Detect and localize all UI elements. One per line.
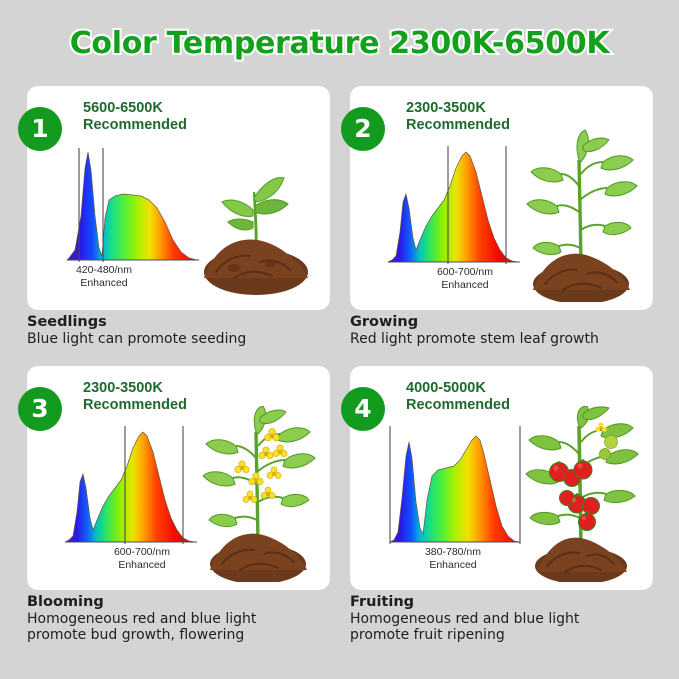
step-badge-3: 3 xyxy=(18,387,62,431)
seedling-plant-svg xyxy=(194,126,322,302)
fruiting-tomato-plant-svg xyxy=(517,406,645,582)
spectrum-svg-1 xyxy=(57,138,202,278)
caption-title-1: Seedlings xyxy=(27,314,337,331)
caption-growing: Growing Red light promote stem leaf grow… xyxy=(350,314,660,347)
step-badge-4: 4 xyxy=(341,387,385,431)
page-title: Color Temperature 2300K-6500K xyxy=(0,26,679,61)
caption-fruiting: Fruiting Homogeneous red and blue light … xyxy=(350,594,660,643)
chart-caption-1: 420-480/nm Enhanced xyxy=(49,264,159,289)
caption-title-3: Blooming xyxy=(27,594,337,611)
step-badge-2: 2 xyxy=(341,107,385,151)
fruiting-tomato-plant xyxy=(517,406,645,582)
panel-grid: 1 5600-6500K Recommended xyxy=(18,86,663,645)
growing-plant-svg xyxy=(517,126,645,302)
caption-blooming: Blooming Homogeneous red and blue light … xyxy=(27,594,337,643)
panel-seedlings: 1 5600-6500K Recommended xyxy=(18,86,340,365)
color-temp-heading-3: 2300-3500K Recommended xyxy=(83,380,187,414)
chart-caption-3: 600-700/nm Enhanced xyxy=(87,546,197,571)
card-growing: 2 2300-3500K Recommended xyxy=(350,86,653,310)
caption-desc-3: Homogeneous red and blue light promote b… xyxy=(27,611,337,643)
card-blooming: 3 2300-3500K Recommended xyxy=(27,366,330,590)
flowering-plant xyxy=(194,406,322,582)
card-fruiting: 4 4000-5000K Recommended xyxy=(350,366,653,590)
chart-caption-2: 600-700/nm Enhanced xyxy=(410,266,520,291)
panel-growing: 2 2300-3500K Recommended xyxy=(341,86,663,365)
caption-desc-1: Blue light can promote seeding xyxy=(27,331,337,347)
color-temp-heading-1: 5600-6500K Recommended xyxy=(83,100,187,134)
panel-blooming: 3 2300-3500K Recommended xyxy=(18,366,340,645)
growing-plant xyxy=(517,126,645,302)
caption-desc-4: Homogeneous red and blue light promote f… xyxy=(350,611,660,643)
card-seedlings: 1 5600-6500K Recommended xyxy=(27,86,330,310)
caption-title-4: Fruiting xyxy=(350,594,660,611)
spectrum-svg-4 xyxy=(380,418,525,558)
chart-caption-4: 380-780/nm Enhanced xyxy=(398,546,508,571)
seedling-plant xyxy=(194,126,322,302)
spectrum-chart-fruiting: 380-780/nm Enhanced xyxy=(380,418,525,583)
spectrum-svg-3 xyxy=(57,418,202,558)
color-temp-heading-2: 2300-3500K Recommended xyxy=(406,100,510,134)
spectrum-chart-growing: 600-700/nm Enhanced xyxy=(380,138,525,303)
spectrum-chart-blooming: 600-700/nm Enhanced xyxy=(57,418,202,583)
caption-title-2: Growing xyxy=(350,314,660,331)
flowering-plant-svg xyxy=(194,406,322,582)
spectrum-chart-seedlings: 420-480/nm Enhanced xyxy=(57,138,202,303)
caption-desc-2: Red light promote stem leaf growth xyxy=(350,331,660,347)
step-badge-1: 1 xyxy=(18,107,62,151)
caption-seedlings: Seedlings Blue light can promote seeding xyxy=(27,314,337,347)
panel-fruiting: 4 4000-5000K Recommended xyxy=(341,366,663,645)
spectrum-svg-2 xyxy=(380,138,525,278)
color-temp-heading-4: 4000-5000K Recommended xyxy=(406,380,510,414)
